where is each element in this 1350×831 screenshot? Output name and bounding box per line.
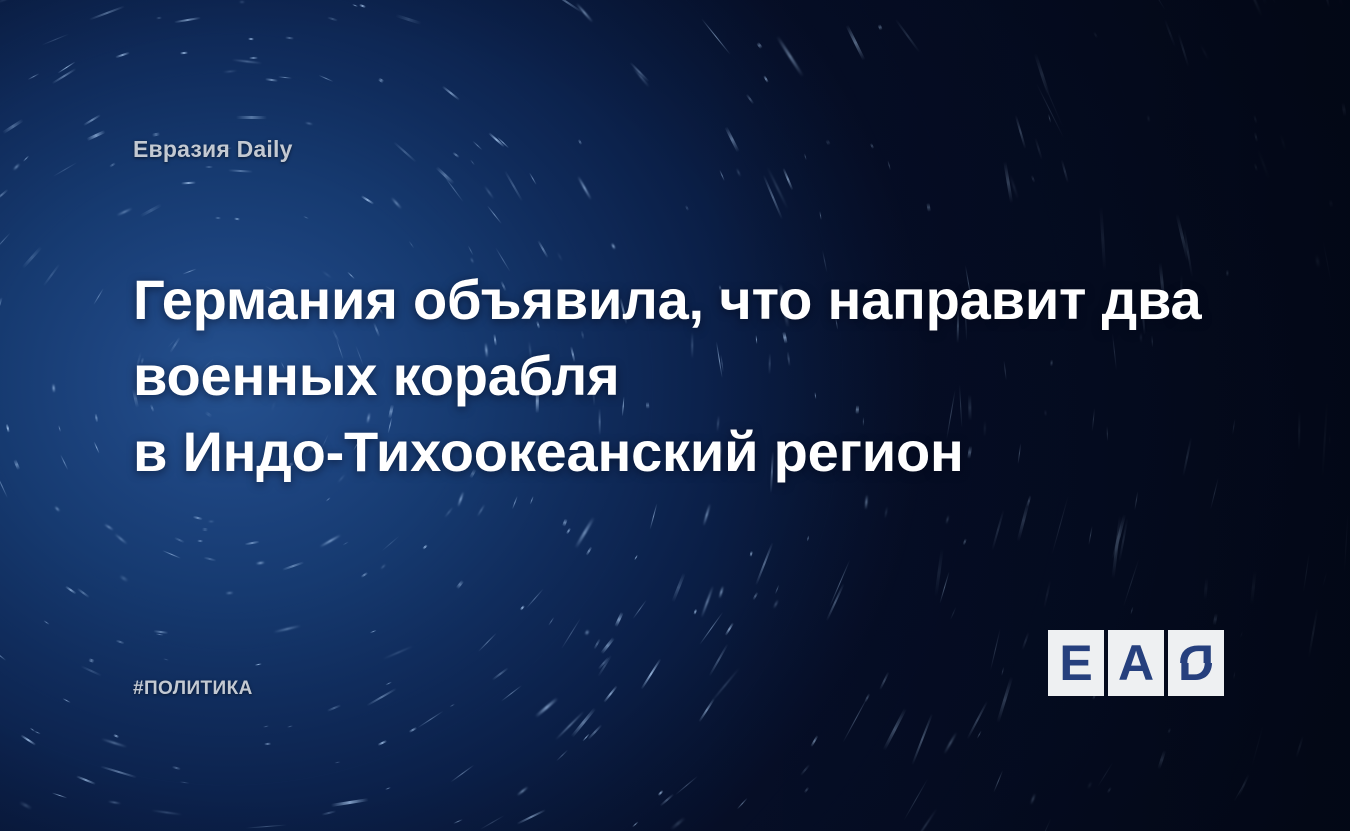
logo-tile-a: A (1108, 630, 1164, 696)
logo-letter-d-split: D D (1168, 616, 1224, 710)
headline-line-1: Германия объявила, что направит два (133, 262, 1223, 338)
logo-letter-e: E (1059, 638, 1092, 688)
logo-letter-d-mirrored: D (1178, 638, 1214, 663)
news-card: Евразия Daily Германия объявила, что нап… (0, 0, 1350, 831)
logo-tile-e: E (1048, 630, 1104, 696)
logo-tile-d: D D (1168, 630, 1224, 696)
logo-letter-a: A (1118, 638, 1154, 688)
logo-letter-d-bottom-half: D (1168, 663, 1224, 710)
logo-letter-d-normal: D (1178, 663, 1214, 688)
source-label: Евразия Daily (133, 136, 293, 163)
ead-logo[interactable]: E A D D (1048, 630, 1224, 696)
headline-line-2: военных корабля (133, 338, 1223, 414)
page-title: Германия объявила, что направит два воен… (133, 262, 1223, 490)
logo-letter-d-top-half: D (1168, 616, 1224, 663)
headline-line-3: в Индо-Тихоокеанский регион (133, 414, 1223, 490)
category-hashtag[interactable]: #ПОЛИТИКА (133, 678, 253, 700)
